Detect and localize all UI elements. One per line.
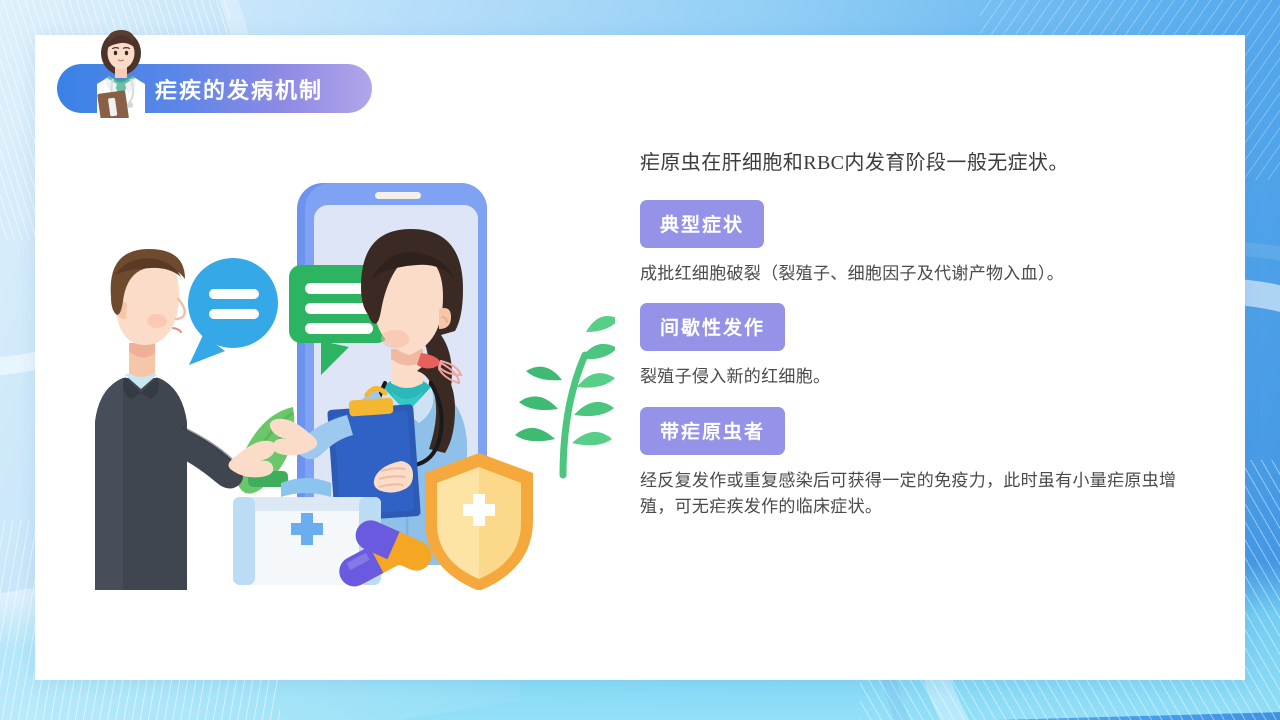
slide-root: 疟疾的发病机制 — [0, 0, 1280, 720]
badge-intermittent-attack[interactable]: 间歇性发作 — [640, 303, 785, 351]
section-parasite-carrier: 带疟原虫者 经反复发作或重复感染后可获得一定的免疫力，此时虽有小量疟原虫增殖，可… — [640, 407, 1185, 521]
desc-typical-symptoms: 成批红细胞破裂（裂殖子、细胞因子及代谢产物入血）。 — [640, 261, 1185, 287]
content-column: 疟原虫在肝细胞和RBC内发育阶段一般无症状。 典型症状 成批红细胞破裂（裂殖子、… — [640, 148, 1185, 534]
slide-title-banner: 疟疾的发病机制 — [57, 64, 372, 113]
telemedicine-illustration — [85, 175, 615, 590]
desc-intermittent-attack: 裂殖子侵入新的红细胞。 — [640, 364, 1185, 390]
section-typical-symptoms: 典型症状 成批红细胞破裂（裂殖子、细胞因子及代谢产物入血）。 — [640, 200, 1185, 287]
desc-parasite-carrier: 经反复发作或重复感染后可获得一定的免疫力，此时虽有小量疟原虫增殖，可无疟疾发作的… — [640, 468, 1185, 521]
shield-cross-icon — [425, 453, 533, 590]
chat-bubble-blue-icon — [188, 258, 278, 365]
page-title: 疟疾的发病机制 — [155, 73, 323, 105]
leaf-plant-icon — [515, 316, 615, 475]
section-intermittent-attack: 间歇性发作 裂殖子侵入新的红细胞。 — [640, 303, 1185, 390]
badge-parasite-carrier[interactable]: 带疟原虫者 — [640, 407, 785, 455]
badge-typical-symptoms[interactable]: 典型症状 — [640, 200, 764, 248]
intro-text: 疟原虫在肝细胞和RBC内发育阶段一般无症状。 — [640, 148, 1185, 178]
doctor-avatar-icon — [85, 26, 157, 118]
